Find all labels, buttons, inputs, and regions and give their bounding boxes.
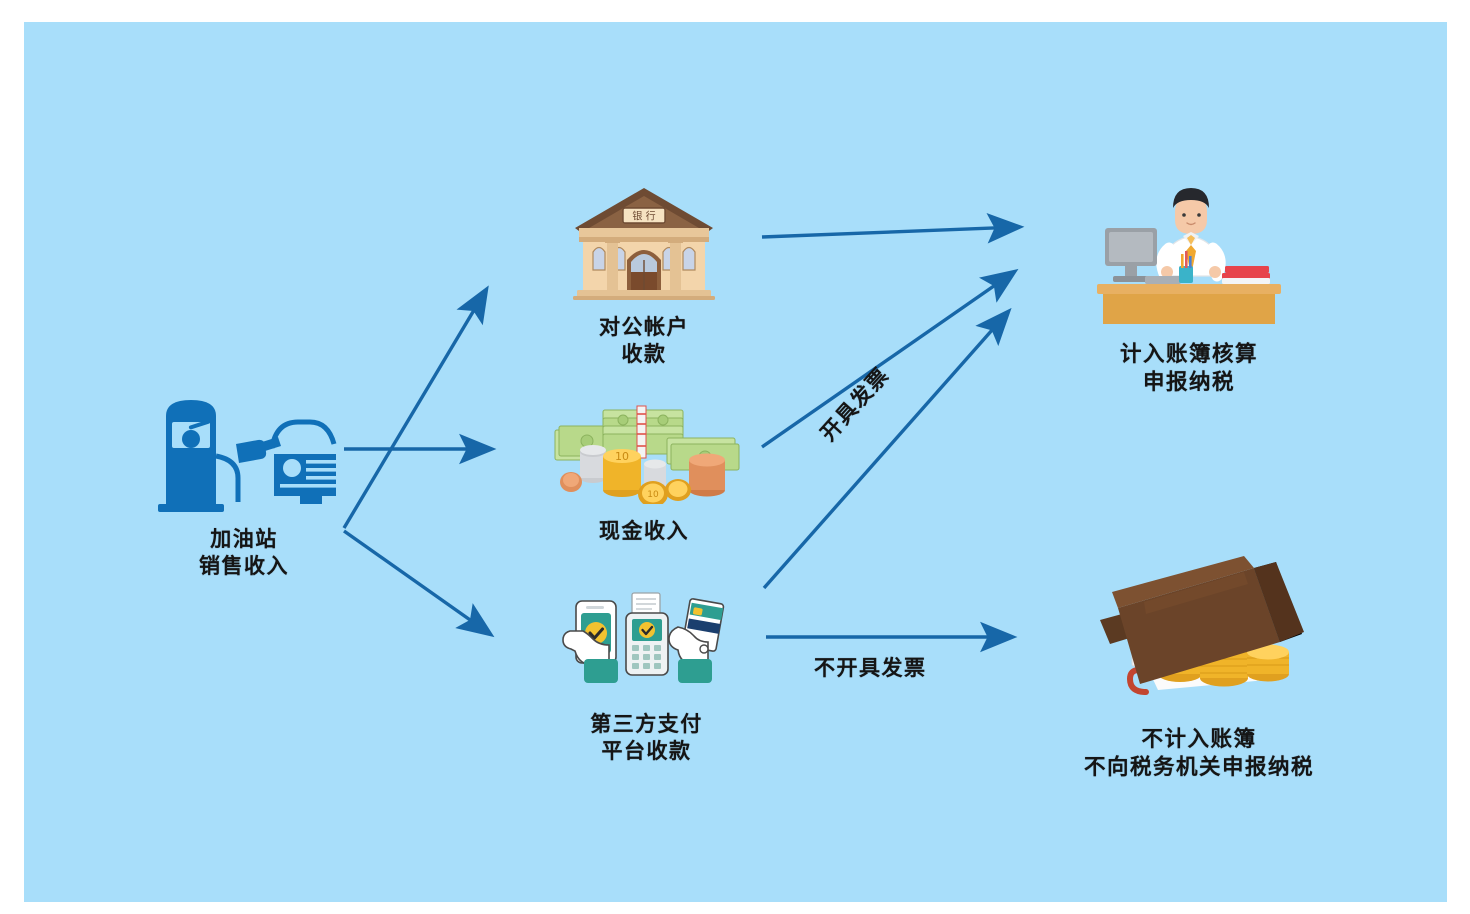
mobile-pos-card-payment-icon <box>554 587 739 701</box>
node-bookkeeping[interactable]: 计入账簿核算 申报纳税 <box>1064 172 1314 396</box>
node-caption-hidden-income: 不计入账簿 不向税务机关申报纳税 <box>1084 726 1314 781</box>
accountant-desk-icon <box>1089 172 1289 331</box>
arrow-gas-to-bank <box>344 290 486 528</box>
svg-text:10: 10 <box>615 450 629 463</box>
arrow-thirdparty-to-bookkeeping <box>764 312 1008 588</box>
node-caption-bookkeeping: 计入账簿核算 申报纳税 <box>1120 341 1258 396</box>
gas-pump-car-icon <box>144 382 344 516</box>
bank-building-icon: 银 行 <box>569 182 719 304</box>
node-caption-third-party-payment: 第三方支付 平台收款 <box>590 711 703 765</box>
node-third-party-payment[interactable]: 第三方支付 平台收款 <box>539 587 754 765</box>
node-caption-bank-account: 对公帐户 收款 <box>599 314 689 368</box>
node-caption-cash-income: 现金收入 <box>599 518 689 545</box>
node-cash-income[interactable]: 10 10 <box>529 394 759 545</box>
node-gas-station[interactable]: 加油站 销售收入 <box>134 382 354 580</box>
edge-label-no-invoice: 不开具发票 <box>814 652 927 682</box>
svg-text:银 行: 银 行 <box>632 210 655 223</box>
svg-text:10: 10 <box>647 490 659 500</box>
arrow-cash-to-bookkeeping <box>762 272 1014 447</box>
arrow-bank-to-bookkeeping <box>762 227 1019 237</box>
node-hidden-income[interactable]: 不计入账簿 不向税务机关申报纳税 <box>1034 552 1364 781</box>
diagram-canvas: 开具发票 不开具发票 <box>24 22 1447 902</box>
arrow-gas-to-thirdparty <box>344 531 490 634</box>
cash-stack-coins-icon: 10 10 <box>547 394 742 508</box>
node-bank-account[interactable]: 银 行 <box>544 182 744 368</box>
node-caption-gas-station: 加油站 销售收入 <box>199 526 289 580</box>
box-hiding-coins-icon <box>1084 552 1314 716</box>
